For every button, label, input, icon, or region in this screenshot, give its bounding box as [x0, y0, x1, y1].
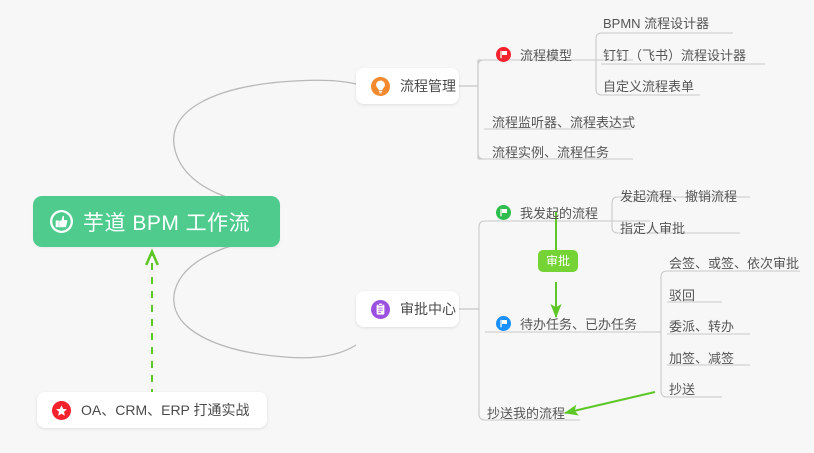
leaf-label-countersign-orsign-sequential: 会签、或签、依次审批	[669, 256, 799, 271]
leaf-label-process-instance-task: 流程实例、流程任务	[492, 145, 609, 160]
leaf-node-countersign-orsign-sequential[interactable]: 会签、或签、依次审批	[669, 253, 799, 276]
branch-label-process-mgmt: 流程管理	[400, 76, 456, 96]
leaf-label-cc-to-me-process: 抄送我的流程	[487, 406, 565, 421]
leaf-node-start-cancel-process[interactable]: 发起流程、撤销流程	[620, 186, 737, 209]
leaf-label-assignee-approval: 指定人审批	[620, 221, 685, 236]
floating-label-integration: OA、CRM、ERP 打通实战	[81, 400, 250, 420]
leaf-label-process-listener-expression: 流程监听器、流程表达式	[492, 115, 635, 130]
leaf-label-bpmn-designer: BPMN 流程设计器	[603, 16, 709, 31]
flag-icon	[495, 46, 512, 63]
branch-node-process-mgmt[interactable]: 流程管理	[356, 68, 459, 104]
leaf-node-delegate-transfer[interactable]: 委派、转办	[669, 316, 734, 339]
leaf-node-cc-to-me-process[interactable]: 抄送我的流程	[487, 403, 565, 426]
edge-root-to-process-mgmt	[174, 80, 356, 208]
leaf-node-process-listener-expression[interactable]: 流程监听器、流程表达式	[492, 112, 635, 135]
leaf-label-reject: 驳回	[669, 288, 695, 303]
l2-node-process-model[interactable]: 流程模型	[495, 45, 572, 68]
leaf-label-custom-process-form: 自定义流程表单	[603, 79, 694, 94]
leaf-node-reject[interactable]: 驳回	[669, 285, 695, 308]
root-node[interactable]: 芋道 BPM 工作流	[33, 196, 280, 247]
leaf-label-start-cancel-process: 发起流程、撤销流程	[620, 189, 737, 204]
annotation-cc-link-arrow	[565, 392, 655, 413]
thumbs-up-icon	[50, 210, 73, 233]
leaf-label-dingtalk-feishu-designer: 钉钉（飞书）流程设计器	[603, 48, 746, 63]
leaf-node-custom-process-form[interactable]: 自定义流程表单	[603, 76, 694, 99]
callout-approval-label: 审批	[546, 254, 570, 268]
leaf-label-cc: 抄送	[669, 382, 695, 397]
edge-process-mgmt-spine	[478, 60, 482, 159]
mindmap-canvas: 芋道 BPM 工作流 流程管理 审批中心	[0, 0, 814, 453]
leaf-node-assignee-approval[interactable]: 指定人审批	[620, 218, 685, 241]
floating-node-integration[interactable]: OA、CRM、ERP 打通实战	[37, 392, 267, 428]
root-label: 芋道 BPM 工作流	[83, 207, 250, 237]
leaf-label-add-remove-sign: 加签、减签	[669, 351, 734, 366]
callout-approval[interactable]: 审批	[538, 250, 578, 272]
leaf-node-cc[interactable]: 抄送	[669, 379, 695, 402]
leaf-node-add-remove-sign[interactable]: 加签、减签	[669, 348, 734, 371]
l2-label-todo-done-task: 待办任务、已办任务	[520, 314, 637, 333]
leaf-node-process-instance-task[interactable]: 流程实例、流程任务	[492, 142, 609, 165]
lightbulb-icon	[370, 76, 391, 97]
edge-root-to-approval-ctr	[174, 236, 356, 358]
leaf-label-delegate-transfer: 委派、转办	[669, 319, 734, 334]
branch-node-approval-ctr[interactable]: 审批中心	[356, 291, 459, 327]
clipboard-icon	[370, 299, 391, 320]
star-icon	[51, 400, 72, 421]
l2-label-process-model: 流程模型	[520, 45, 572, 64]
l2-label-my-started-process: 我发起的流程	[520, 203, 598, 222]
l2-node-todo-done-task[interactable]: 待办任务、已办任务	[495, 314, 637, 337]
leaf-node-bpmn-designer[interactable]: BPMN 流程设计器	[603, 13, 709, 36]
branch-label-approval-ctr: 审批中心	[400, 299, 456, 319]
flag-icon	[495, 315, 512, 332]
l2-node-my-started-process[interactable]: 我发起的流程	[495, 203, 598, 226]
leaf-node-dingtalk-feishu-designer[interactable]: 钉钉（飞书）流程设计器	[603, 45, 746, 68]
flag-icon	[495, 204, 512, 221]
